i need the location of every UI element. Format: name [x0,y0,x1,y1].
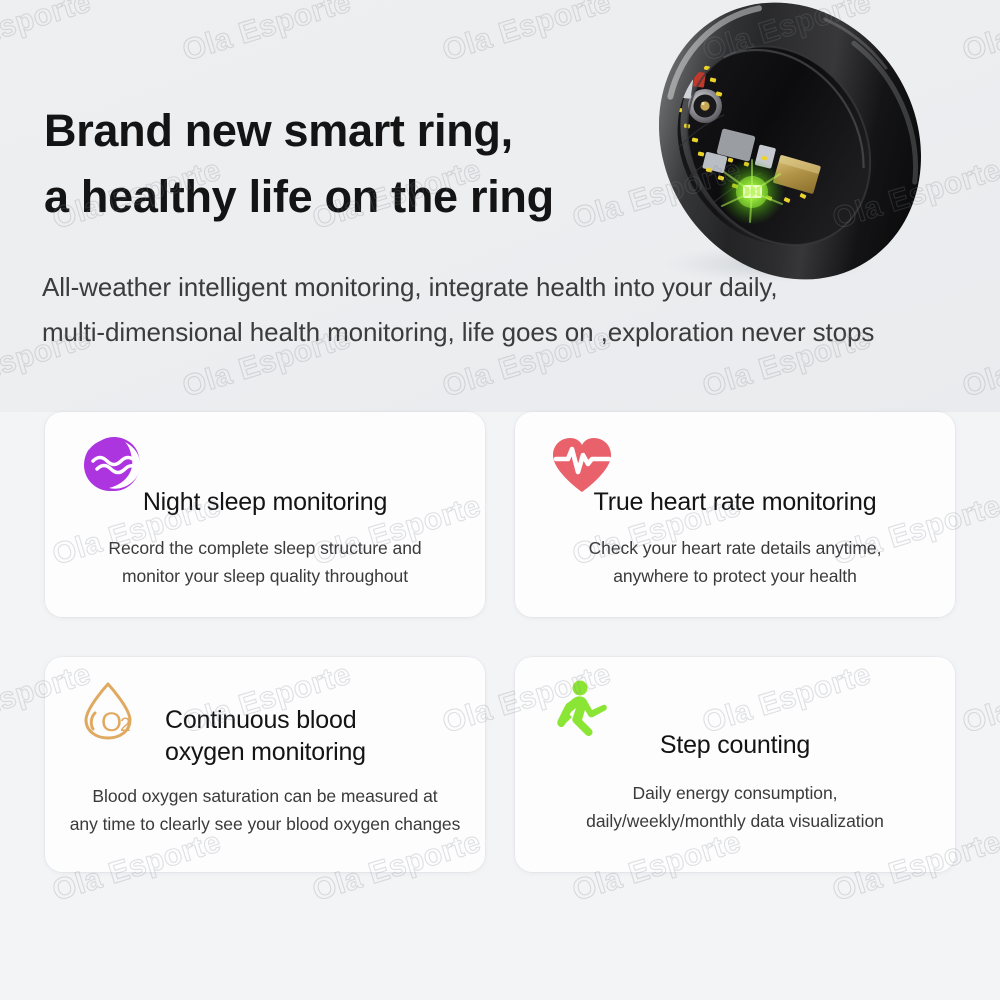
feature-title: Continuous blood oxygen monitoring [165,704,465,768]
feature-desc-line: any time to clearly see your blood oxyge… [45,810,485,838]
feature-card-grid: Night sleep monitoring Record the comple… [45,412,955,872]
ring-green-led [719,159,785,225]
page-title: Brand new smart ring, a healthy life on … [44,98,664,230]
feature-title-line: Continuous blood [165,704,465,736]
feature-card-step-counting[interactable]: Step counting Daily energy consumption, … [515,657,955,872]
feature-title: Night sleep monitoring [45,486,485,518]
subtitle-line-2: multi-dimensional health monitoring, lif… [42,310,972,355]
blood-drop-o2-icon: O 2 [77,679,147,741]
headline-line-2: a healthy life on the ring [44,164,664,230]
features-section: Night sleep monitoring Record the comple… [0,412,1000,1000]
o2-subscript: 2 [120,715,131,736]
feature-desc-line: Blood oxygen saturation can be measured … [45,782,485,810]
feature-title: Step counting [515,729,955,761]
product-marketing-page: Brand new smart ring, a healthy life on … [0,0,1000,1000]
feature-desc-line: monitor your sleep quality throughout [45,562,485,590]
feature-title-line: oxygen monitoring [165,736,465,768]
feature-desc-line: daily/weekly/monthly data visualization [515,807,955,835]
feature-desc-line: Check your heart rate details anytime, [515,534,955,562]
feature-card-heart-rate[interactable]: True heart rate monitoring Check your he… [515,412,955,617]
feature-card-night-sleep[interactable]: Night sleep monitoring Record the comple… [45,412,485,617]
feature-title: True heart rate monitoring [515,486,955,518]
headline-line-1: Brand new smart ring, [44,98,664,164]
feature-card-blood-oxygen[interactable]: O 2 Continuous blood oxygen monitoring B… [45,657,485,872]
feature-desc-line: Daily energy consumption, [515,779,955,807]
feature-desc-line: anywhere to protect your health [515,562,955,590]
feature-description: Record the complete sleep structure and … [45,534,485,591]
smart-ring-photo [600,0,1000,296]
hero-section: Brand new smart ring, a healthy life on … [0,0,1000,412]
feature-description: Daily energy consumption, daily/weekly/m… [515,779,955,836]
o2-label: O [101,707,122,737]
smart-ring-illustration [600,0,1000,296]
feature-description: Blood oxygen saturation can be measured … [45,782,485,839]
feature-desc-line: Record the complete sleep structure and [45,534,485,562]
feature-description: Check your heart rate details anytime, a… [515,534,955,591]
